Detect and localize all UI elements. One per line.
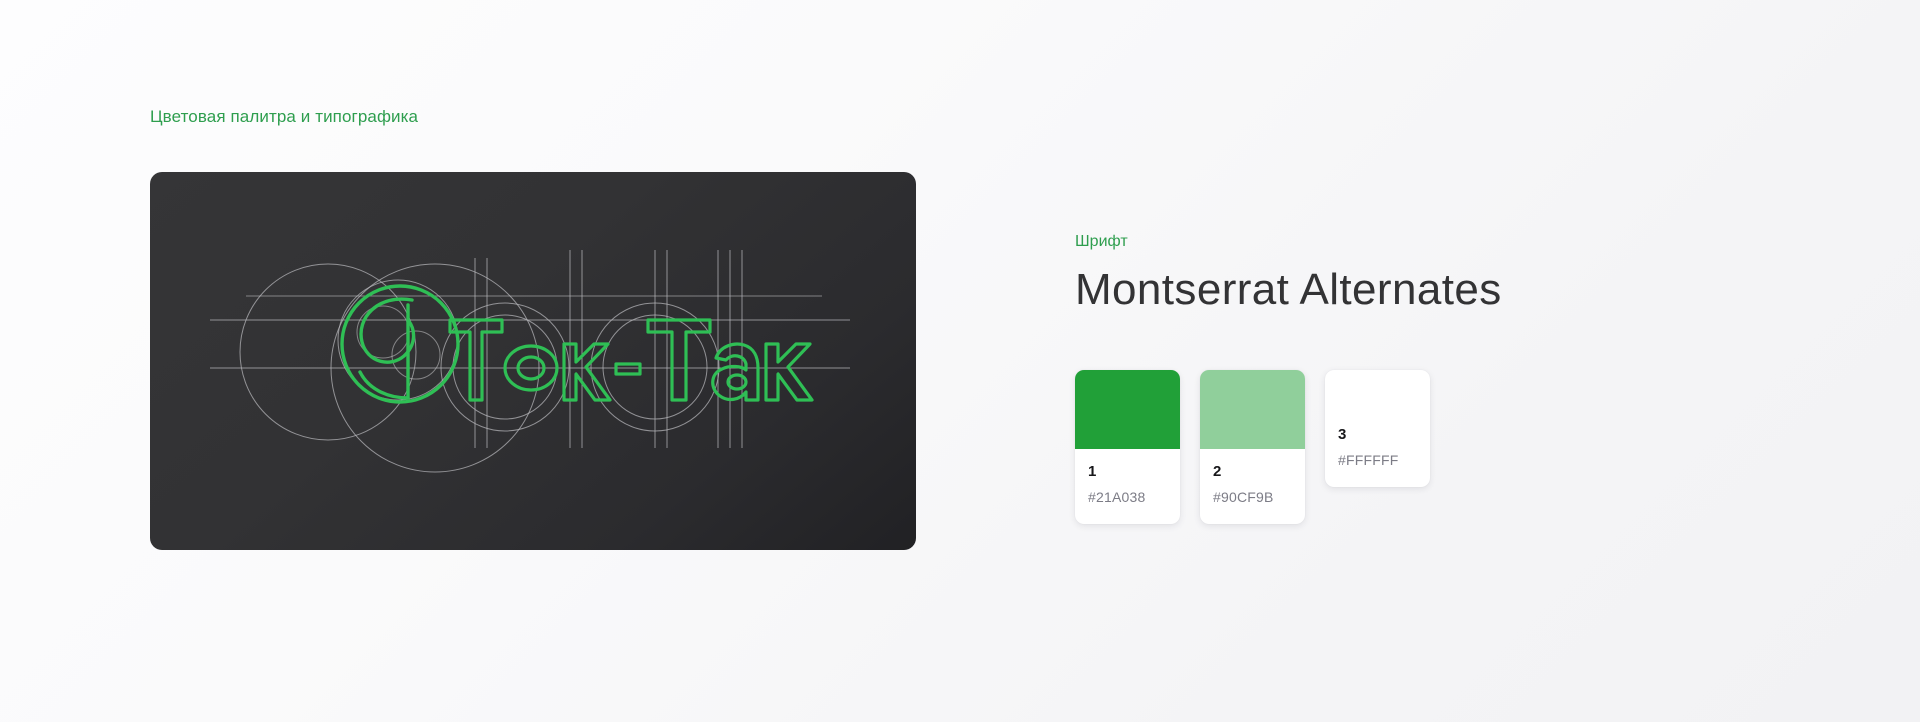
swatch-card[interactable]: 2 #90CF9B <box>1200 370 1305 524</box>
swatch-index: 3 <box>1338 426 1417 444</box>
logo-stage: .g { fill:none; stroke:#B9B9BC; stroke-w… <box>150 172 916 550</box>
wordmark-tok-tak <box>450 320 812 400</box>
swatch-card[interactable]: 3 #FFFFFF <box>1325 370 1430 487</box>
swatch-meta: 3 #FFFFFF <box>1325 370 1430 487</box>
typography-block: Шрифт Montserrat Alternates <box>1075 232 1775 316</box>
brand-style-page: Цветовая палитра и типографика .g { fill… <box>0 0 1920 722</box>
swatch-meta: 1 #21A038 <box>1075 449 1180 524</box>
typography-label: Шрифт <box>1075 232 1775 252</box>
font-name: Montserrat Alternates <box>1075 264 1775 316</box>
swatch-hex-value: #FFFFFF <box>1338 452 1417 469</box>
color-palette: 1 #21A038 2 #90CF9B 3 #FFFFFF <box>1075 370 1430 524</box>
page-title: Цветовая палитра и типографика <box>150 106 418 128</box>
swatch-color-chip <box>1075 370 1180 449</box>
logo-construction-artwork: .g { fill:none; stroke:#B9B9BC; stroke-w… <box>150 172 916 550</box>
swatch-card[interactable]: 1 #21A038 <box>1075 370 1180 524</box>
swatch-index: 2 <box>1213 463 1292 481</box>
swatch-hex-value: #90CF9B <box>1213 489 1292 506</box>
swatch-index: 1 <box>1088 463 1167 481</box>
swatch-hex-value: #21A038 <box>1088 489 1167 506</box>
swatch-meta: 2 #90CF9B <box>1200 449 1305 524</box>
logo-construction-panel: .g { fill:none; stroke:#B9B9BC; stroke-w… <box>150 172 916 550</box>
swatch-color-chip <box>1200 370 1305 449</box>
